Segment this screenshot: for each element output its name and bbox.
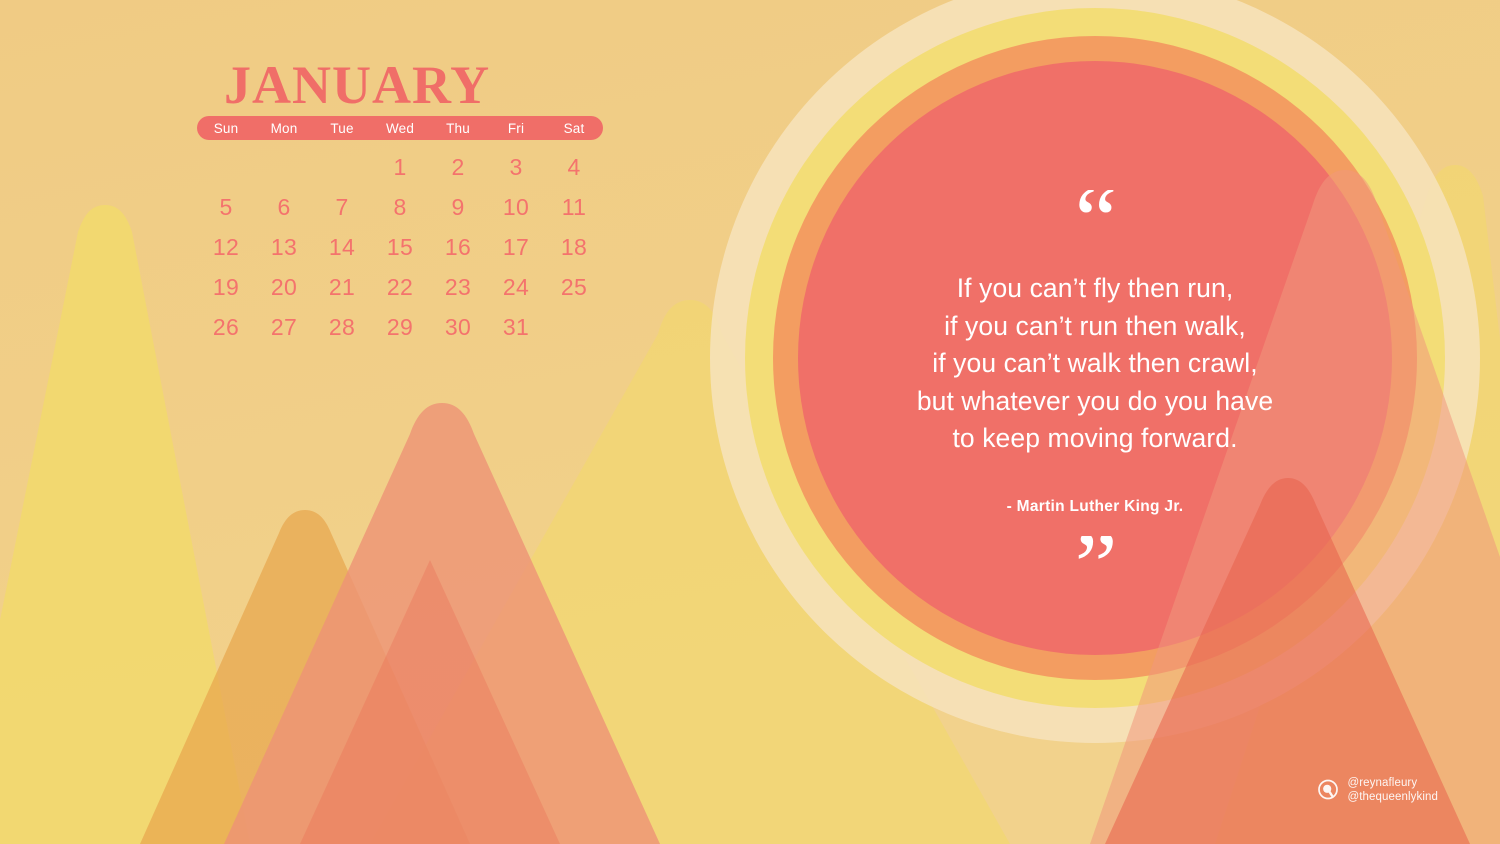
quote-card: “ If you can’t fly then run,if you can’t… — [795, 190, 1395, 598]
weekday-label-thu: Thu — [429, 121, 487, 136]
quote-line-2: if you can’t run then walk, — [795, 308, 1395, 346]
calendar-day-17[interactable]: 17 — [487, 227, 545, 267]
calendar-day-11[interactable]: 11 — [545, 187, 603, 227]
calendar-day-blank — [197, 147, 255, 187]
calendar-day-27[interactable]: 27 — [255, 307, 313, 347]
calendar-day-blank — [255, 147, 313, 187]
wallpaper-canvas: JANUARY Sun Mon Tue Wed Thu Fri Sat 1234… — [0, 0, 1500, 844]
quote-line-3: if you can’t walk then crawl, — [795, 345, 1395, 383]
calendar-day-8[interactable]: 8 — [371, 187, 429, 227]
calendar-days-grid: 1234567891011121314151617181920212223242… — [197, 147, 603, 347]
quote-close-mark: ” — [795, 536, 1395, 598]
calendar-day-14[interactable]: 14 — [313, 227, 371, 267]
calendar-day-1[interactable]: 1 — [371, 147, 429, 187]
calendar-day-22[interactable]: 22 — [371, 267, 429, 307]
calendar-day-5[interactable]: 5 — [197, 187, 255, 227]
circle-q-logo-icon — [1316, 778, 1340, 802]
weekday-header-bar: Sun Mon Tue Wed Thu Fri Sat — [197, 116, 603, 140]
calendar-day-13[interactable]: 13 — [255, 227, 313, 267]
quote-line-1: If you can’t fly then run, — [795, 270, 1395, 308]
calendar-day-15[interactable]: 15 — [371, 227, 429, 267]
quote-attribution: - Martin Luther King Jr. — [795, 498, 1395, 516]
calendar-day-25[interactable]: 25 — [545, 267, 603, 307]
calendar-day-24[interactable]: 24 — [487, 267, 545, 307]
calendar-day-21[interactable]: 21 — [313, 267, 371, 307]
calendar-day-blank — [313, 147, 371, 187]
calendar-widget: JANUARY Sun Mon Tue Wed Thu Fri Sat 1234… — [197, 58, 603, 347]
quote-text: If you can’t fly then run,if you can’t r… — [795, 270, 1395, 458]
weekday-label-sun: Sun — [197, 121, 255, 136]
weekday-label-tue: Tue — [313, 121, 371, 136]
calendar-day-9[interactable]: 9 — [429, 187, 487, 227]
calendar-day-20[interactable]: 20 — [255, 267, 313, 307]
weekday-label-wed: Wed — [371, 121, 429, 136]
calendar-day-23[interactable]: 23 — [429, 267, 487, 307]
calendar-day-16[interactable]: 16 — [429, 227, 487, 267]
quote-open-mark: “ — [795, 190, 1395, 252]
page-title: JANUARY — [224, 58, 603, 112]
calendar-day-10[interactable]: 10 — [487, 187, 545, 227]
calendar-day-28[interactable]: 28 — [313, 307, 371, 347]
calendar-day-19[interactable]: 19 — [197, 267, 255, 307]
weekday-label-sat: Sat — [545, 121, 603, 136]
calendar-day-18[interactable]: 18 — [545, 227, 603, 267]
calendar-day-26[interactable]: 26 — [197, 307, 255, 347]
calendar-day-4[interactable]: 4 — [545, 147, 603, 187]
calendar-day-3[interactable]: 3 — [487, 147, 545, 187]
watermark-credit: @reynafleury @thequeenlykind — [1316, 776, 1438, 804]
weekday-label-fri: Fri — [487, 121, 545, 136]
weekday-label-mon: Mon — [255, 121, 313, 136]
calendar-day-12[interactable]: 12 — [197, 227, 255, 267]
watermark-handles: @reynafleury @thequeenlykind — [1347, 776, 1438, 804]
calendar-day-6[interactable]: 6 — [255, 187, 313, 227]
quote-line-5: to keep moving forward. — [795, 420, 1395, 458]
quote-line-4: but whatever you do you have — [795, 383, 1395, 421]
calendar-day-30[interactable]: 30 — [429, 307, 487, 347]
calendar-day-29[interactable]: 29 — [371, 307, 429, 347]
watermark-handle-primary: @reynafleury — [1347, 776, 1438, 790]
watermark-handle-secondary: @thequeenlykind — [1347, 790, 1438, 804]
calendar-day-7[interactable]: 7 — [313, 187, 371, 227]
mountain-red-center — [300, 560, 560, 844]
calendar-day-31[interactable]: 31 — [487, 307, 545, 347]
calendar-day-2[interactable]: 2 — [429, 147, 487, 187]
